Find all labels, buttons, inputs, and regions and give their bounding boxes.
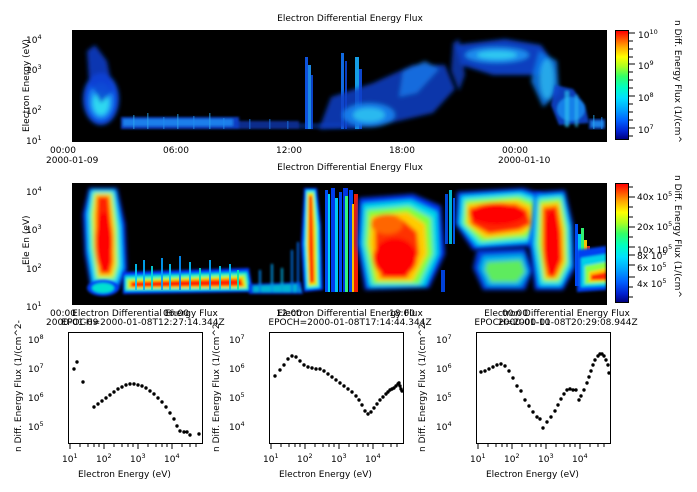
spectrum-2-ytick-6: 106 (436, 362, 452, 375)
spectrum-2-xtick-2: 102 (504, 452, 520, 465)
spectrum-2-xticks (476, 444, 613, 451)
spectrum-0-ylabel: n Diff. Energy Flux (1/(cm^2- (14, 320, 24, 452)
spectrum-0-canvas (69, 333, 202, 443)
spectrum-2-xtick-1: 101 (470, 452, 486, 465)
spectrum-2-xtick-4: 104 (572, 452, 588, 465)
panel-mid-cbtick-4: 4x 105 (637, 277, 667, 290)
panel-mid-cbtick-20: 20x 105 (637, 220, 672, 233)
panel-top-xtick-date-left: 2000-01-09 (46, 156, 98, 166)
panel-mid-spectrogram[interactable] (72, 183, 607, 305)
panel-top-ytick-1: 101 (26, 134, 42, 147)
panel-mid-colorbar[interactable] (615, 183, 629, 303)
panel-top-cbtick-7: 107 (638, 123, 654, 136)
spectrum-0-xtick-1: 101 (62, 452, 78, 465)
spectrum-1-xtick-4: 104 (365, 452, 381, 465)
spectrum-0-xtick-2: 102 (96, 452, 112, 465)
spectrum-1-xtick-2: 102 (297, 452, 313, 465)
spectrum-1-ytick-7: 107 (229, 333, 245, 346)
panel-top-colorbar[interactable] (615, 30, 629, 140)
spectrum-1-canvas (270, 333, 403, 443)
panel-mid-colorbar-label: n Diff. Energy Flux (1/(cm^ (672, 175, 682, 298)
spectrum-1-ytick-4: 104 (229, 420, 245, 433)
spectrum-1-xlabel: Electron Energy (eV) (279, 470, 372, 480)
panel-top-xtick-0: 00:00 (50, 146, 76, 156)
spectrum-2-xlabel: Electron Energy (eV) (486, 470, 579, 480)
spectrum-1-xtick-1: 101 (263, 452, 279, 465)
spectrum-0-plot[interactable] (68, 332, 203, 444)
spectrum-0-xtick-3: 103 (130, 452, 146, 465)
spectrum-2-ylabel: n Diff. Energy Flux (1/(cm^2- (418, 320, 428, 452)
panel-top-spectrogram-canvas (73, 31, 606, 141)
panel-top-xtick-3: 18:00 (389, 146, 415, 156)
spectrum-2-xtick-3: 103 (538, 452, 554, 465)
panel-top-ytick-4: 104 (26, 33, 42, 46)
spectrum-2-ytick-5: 105 (436, 391, 452, 404)
panel-mid-ytick-4: 104 (26, 185, 42, 198)
panel-top-xtick-2: 12:00 (276, 146, 302, 156)
spectrum-1-xtick-3: 103 (331, 452, 347, 465)
panel-top-ytick-2: 102 (26, 104, 42, 117)
spectrum-1-epoch: EPOCH=2000-01-08T17:14:44.344Z (237, 318, 463, 328)
panel-top-ylabel: Electron Energy (eV) (22, 39, 32, 132)
spectrum-2-epoch: EPOCH=2000-01-08T20:29:08.944Z (443, 318, 669, 328)
panel-top-ytick-3: 103 (26, 63, 42, 76)
panel-mid-spectrogram-canvas (73, 184, 606, 304)
spectrum-0-xlabel: Electron Energy (eV) (78, 470, 171, 480)
panel-top-spectrogram[interactable] (72, 30, 607, 142)
spectrum-0-epoch: EPOCH=2000-01-08T12:27:14.344Z (28, 318, 258, 328)
panel-top-xtick-1: 06:00 (163, 146, 189, 156)
panel-mid-colorbar-ticks (629, 183, 637, 305)
panel-top-colorbar-ticks (629, 30, 637, 142)
spectrum-2-ytick-4: 104 (436, 420, 452, 433)
spectrum-2-ytick-7: 107 (436, 333, 452, 346)
spectrum-1-plot[interactable] (269, 332, 404, 444)
panel-top-colorbar-label: n Diff. Energy Flux (1/(cm^ (672, 20, 682, 143)
panel-top-cbtick-10: 1010 (638, 28, 658, 41)
spectrum-0-ytick-7: 107 (28, 362, 44, 375)
panel-top-xtick-4: 00:00 (502, 146, 528, 156)
spectrum-1-xticks (269, 444, 406, 451)
panel-top-cbtick-8: 108 (638, 91, 654, 104)
panel-top-cbtick-9: 109 (638, 59, 654, 72)
panel-mid-cbtick-6: 6x 105 (637, 261, 667, 274)
panel-mid-ytick-3: 103 (26, 223, 42, 236)
spectrum-0-xticks (68, 444, 205, 451)
panel-mid-ytick-2: 102 (26, 262, 42, 275)
panel-mid-title: Electron Differential Energy Flux (160, 163, 540, 173)
spectrum-2-canvas (477, 333, 610, 443)
spectrum-0-ytick-8: 108 (28, 333, 44, 346)
spectrum-1-ylabel: n Diff. Energy Flux (1/(cm^2- (212, 320, 222, 452)
panel-mid-cbtick-40: 40x 105 (637, 190, 672, 203)
spectrum-0-ytick-6: 106 (28, 391, 44, 404)
spectrum-1-ytick-5: 105 (229, 391, 245, 404)
panel-top-title: Electron Differential Energy Flux (160, 14, 540, 24)
spectrum-2-plot[interactable] (476, 332, 611, 444)
spectrum-1-ytick-6: 106 (229, 362, 245, 375)
spectrum-0-ytick-5: 105 (28, 420, 44, 433)
spectrum-0-xtick-4: 104 (164, 452, 180, 465)
